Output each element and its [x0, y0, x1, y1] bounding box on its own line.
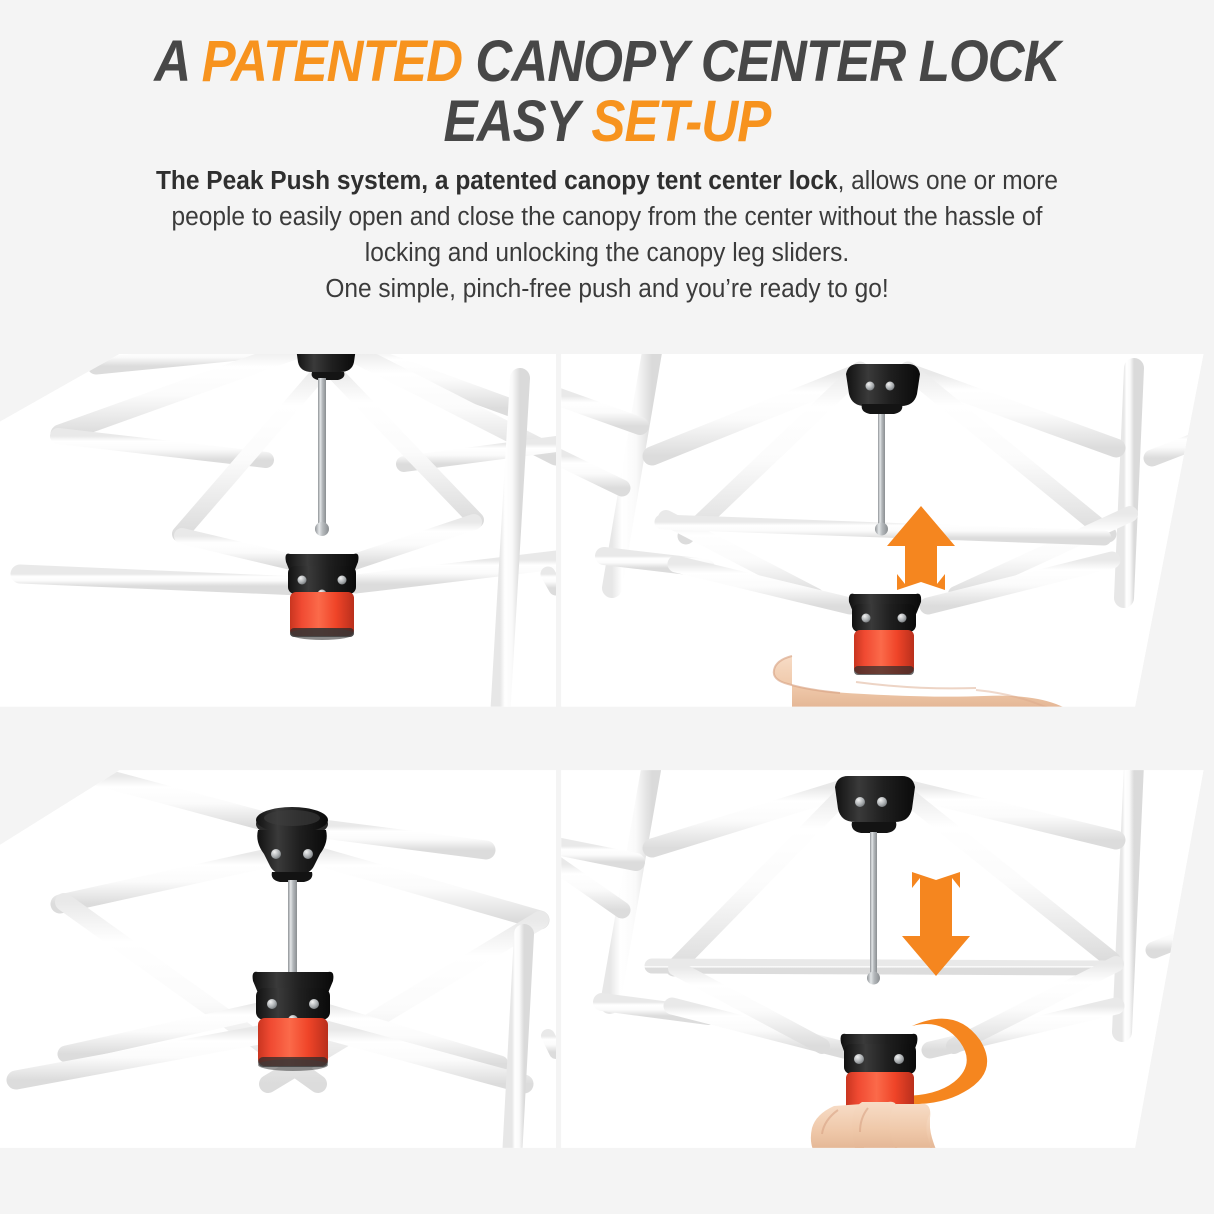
headline-line1-part2: CANOPY CENTER LOCK: [462, 29, 1060, 94]
center-lock-hub: [849, 594, 921, 675]
description-line-1: The Peak Push system, a patented canopy …: [99, 163, 1115, 199]
headline-line-1: A PATENTED CANOPY CENTER LOCK: [73, 34, 1141, 90]
headline-accent-patented: PATENTED: [202, 29, 462, 94]
headline-line1-part1: A: [154, 29, 201, 94]
center-lock-rod: [288, 880, 297, 976]
headline-accent-setup: SET-UP: [591, 89, 770, 154]
headline-line-2: EASY SET-UP: [73, 94, 1141, 150]
product-feature-image: A PATENTED CANOPY CENTER LOCK EASY SET-U…: [0, 0, 1214, 1214]
panel-grid: [0, 330, 1214, 1214]
description-line-3: locking and unlocking the canopy leg sli…: [99, 235, 1115, 271]
description-line-2: people to easily open and close the cano…: [99, 199, 1115, 235]
panel-open-extended: [0, 338, 556, 718]
panel-push-up: [556, 338, 1214, 718]
description-text: The Peak Push system, a patented canopy …: [99, 163, 1115, 307]
panel-locked-closed: [0, 754, 556, 1158]
panel-pull-down: [556, 754, 1214, 1158]
center-lock-hub: [286, 554, 359, 640]
center-lock-hub: [253, 972, 334, 1071]
headline-line2-part1: EASY: [444, 89, 592, 154]
page-title: A PATENTED CANOPY CENTER LOCK EASY SET-U…: [73, 34, 1141, 150]
description-line-4: One simple, pinch-free push and you’re r…: [99, 271, 1115, 307]
description-line1-rest: , allows one or more: [838, 167, 1058, 195]
description-bold-lead: The Peak Push system, a patented canopy …: [156, 167, 838, 195]
